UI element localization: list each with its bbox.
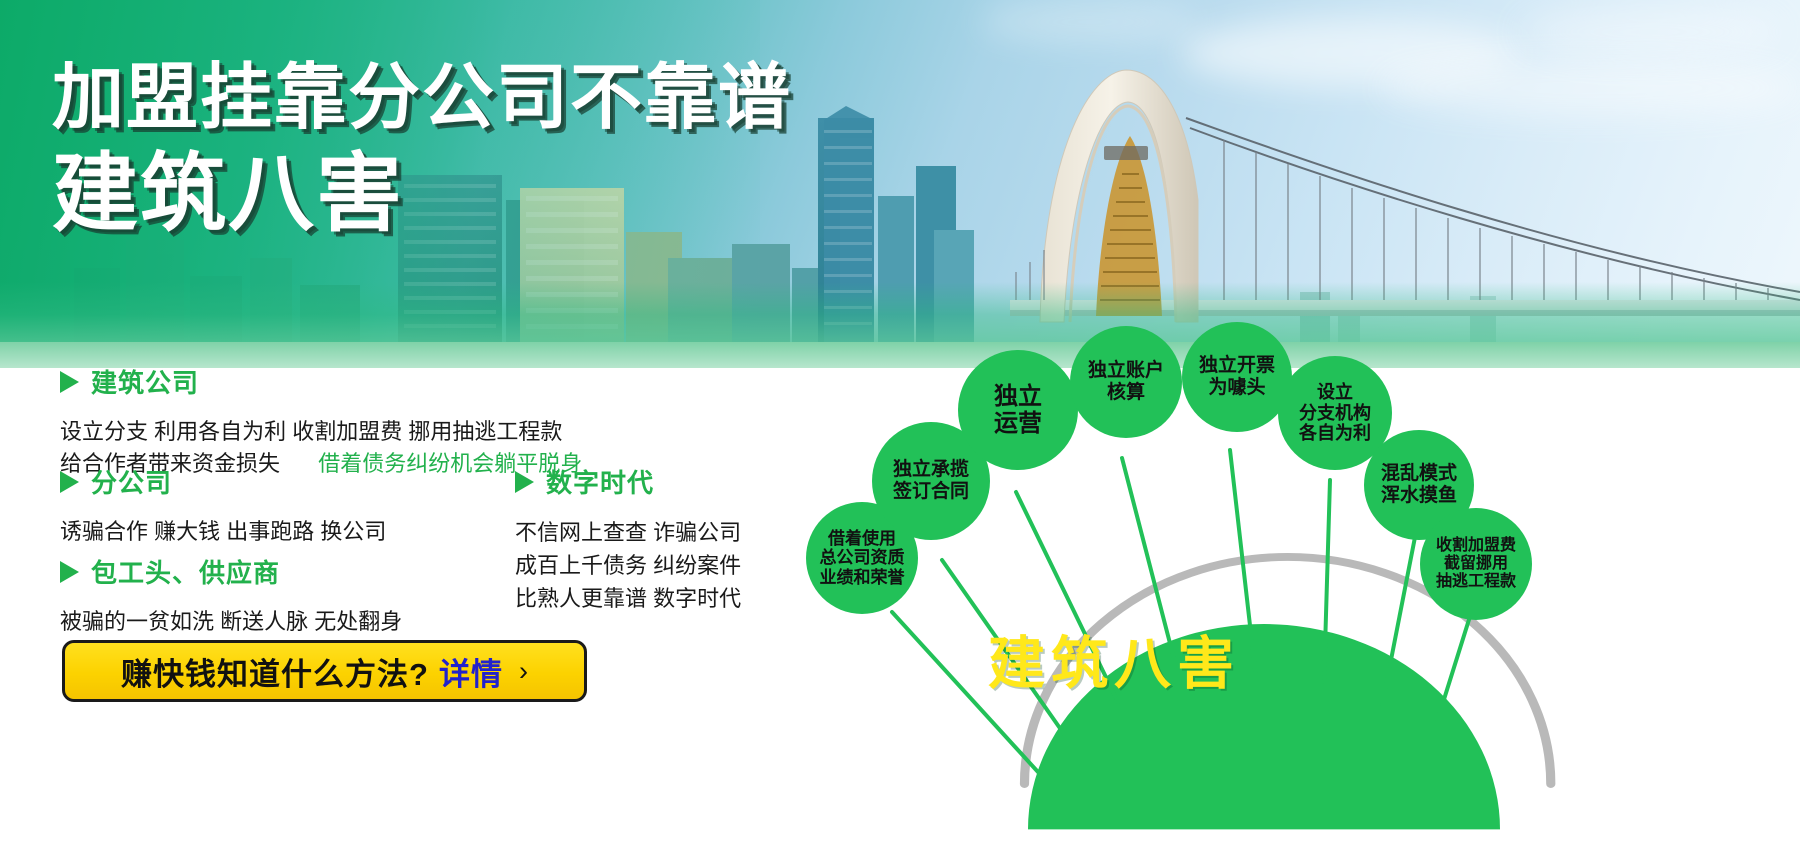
bubble-label: 独立承揽 签订合同 bbox=[893, 459, 969, 502]
bubble-label: 设立 分支机构 各自为利 bbox=[1299, 382, 1371, 444]
section-title: 建筑公司 bbox=[91, 363, 199, 400]
section-foreman-supplier: 包工头、供应商 被骗的一贫如洗 断送人脉 无处翻身 bbox=[60, 553, 402, 638]
cta-details-link[interactable]: 详情 bbox=[439, 649, 503, 694]
bubble-label: 借着使用 总公司资质 业绩和荣誉 bbox=[820, 529, 905, 587]
hero-title-block: 加盟挂靠分公司不靠谱 建筑八害 bbox=[52, 60, 792, 241]
section-line: 被骗的一贫如洗 断送人脉 无处翻身 bbox=[60, 606, 402, 638]
cta-question-label: 赚快钱知道什么方法? bbox=[121, 649, 429, 694]
bubble-label: 独立 运营 bbox=[994, 383, 1042, 438]
section-digital-era: 数字时代 不信网上查查 诈骗公司 成百上千债务 纠纷案件 比熟人更靠谱 数字时代 bbox=[515, 463, 741, 615]
section-header: 建筑公司 bbox=[60, 363, 582, 400]
bubble-label: 收割加盟费 截留挪用 抽逃工程款 bbox=[1436, 537, 1516, 592]
left-content: 建筑公司 设立分支 利用各自为利 收割加盟费 挪用抽逃工程款 给合作者带来资金损… bbox=[0, 368, 800, 844]
section-header: 包工头、供应商 bbox=[60, 553, 402, 590]
section-body: 被骗的一贫如洗 断送人脉 无处翻身 bbox=[60, 606, 402, 638]
section-title: 分公司 bbox=[91, 463, 172, 500]
poster-root: 加盟挂靠分公司不靠谱 建筑八害 建筑公司 设立分支 利用各自为利 收割加盟费 挪… bbox=[0, 0, 1800, 844]
section-header: 数字时代 bbox=[515, 463, 741, 500]
dome-center-label: 建筑八害 bbox=[988, 618, 1240, 700]
section-line: 比熟人更靠谱 数字时代 bbox=[515, 582, 741, 615]
bubble-independent-account[interactable]: 独立账户 核算 bbox=[1070, 326, 1182, 438]
section-line: 设立分支 利用各自为利 收割加盟费 挪用抽逃工程款 bbox=[60, 416, 582, 448]
triangle-bullet-icon bbox=[60, 371, 79, 393]
eight-harms-diagram: 借着使用 总公司资质 业绩和荣誉 独立承揽 签订合同 独立 运营 独立账户 核算 bbox=[800, 330, 1800, 844]
triangle-bullet-icon bbox=[515, 471, 534, 493]
bubble-franchise-fee-misuse[interactable]: 收割加盟费 截留挪用 抽逃工程款 bbox=[1420, 508, 1532, 620]
hero-title-line-1: 加盟挂靠分公司不靠谱 bbox=[52, 60, 792, 138]
section-body: 诱骗合作 赚大钱 出事跑路 换公司 bbox=[60, 516, 386, 548]
bubble-independent-invoicing[interactable]: 独立开票 为噱头 bbox=[1182, 322, 1292, 432]
triangle-bullet-icon bbox=[60, 561, 79, 583]
section-line: 成百上千债务 纠纷案件 bbox=[515, 549, 741, 582]
section-body: 不信网上查查 诈骗公司 成百上千债务 纠纷案件 比熟人更靠谱 数字时代 bbox=[515, 516, 741, 615]
section-line: 诱骗合作 赚大钱 出事跑路 换公司 bbox=[60, 516, 386, 548]
hero-banner: 加盟挂靠分公司不靠谱 建筑八害 bbox=[0, 0, 1800, 368]
bubble-independent-operation[interactable]: 独立 运营 bbox=[958, 350, 1078, 470]
section-title: 包工头、供应商 bbox=[91, 553, 280, 590]
chevron-right-icon: › bbox=[519, 656, 528, 687]
triangle-bullet-icon bbox=[60, 471, 79, 493]
bubble-label: 独立账户 核算 bbox=[1088, 360, 1164, 403]
cta-button[interactable]: 赚快钱知道什么方法? 详情 › bbox=[62, 640, 587, 702]
section-header: 分公司 bbox=[60, 463, 386, 500]
bubble-label: 混乱模式 浑水摸鱼 bbox=[1381, 463, 1457, 506]
bubble-label: 独立开票 为噱头 bbox=[1199, 355, 1275, 398]
section-branch-company: 分公司 诱骗合作 赚大钱 出事跑路 换公司 bbox=[60, 463, 386, 548]
section-line: 不信网上查查 诈骗公司 bbox=[515, 516, 741, 549]
hero-title-line-2: 建筑八害 bbox=[52, 148, 792, 241]
section-title: 数字时代 bbox=[546, 463, 654, 500]
